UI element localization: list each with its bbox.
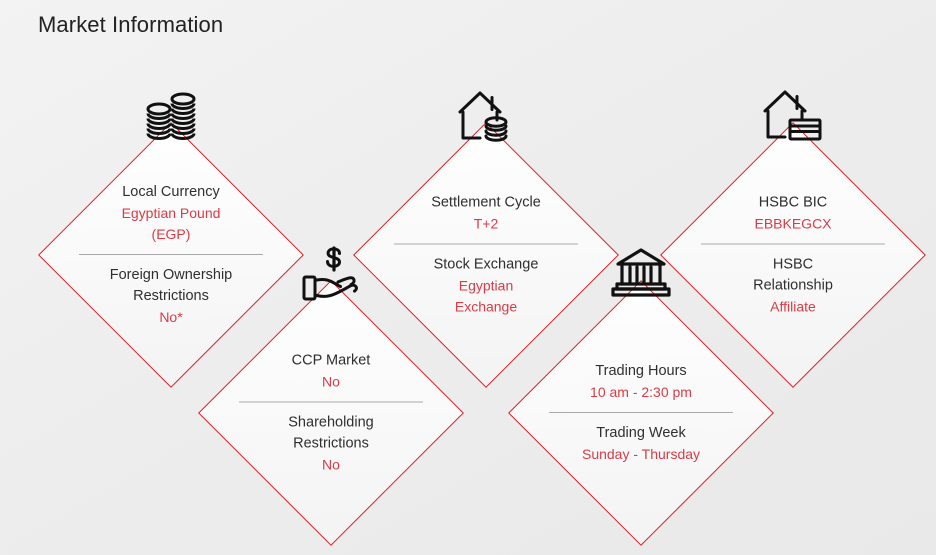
diamond-shape bbox=[660, 122, 926, 388]
house-with-card-icon bbox=[761, 87, 825, 145]
house-with-coins-icon bbox=[456, 88, 516, 146]
bank-building-icon bbox=[610, 246, 672, 302]
coin-stacks-icon bbox=[142, 91, 200, 145]
diamond-card-hsbc-bic[interactable]: HSBC BIC EBBKEGCX HSBC Relationship Affi… bbox=[660, 122, 926, 388]
diamond-board: Local Currency Egyptian Pound (EGP) Fore… bbox=[0, 0, 936, 555]
hand-with-dollar-icon bbox=[298, 244, 364, 306]
